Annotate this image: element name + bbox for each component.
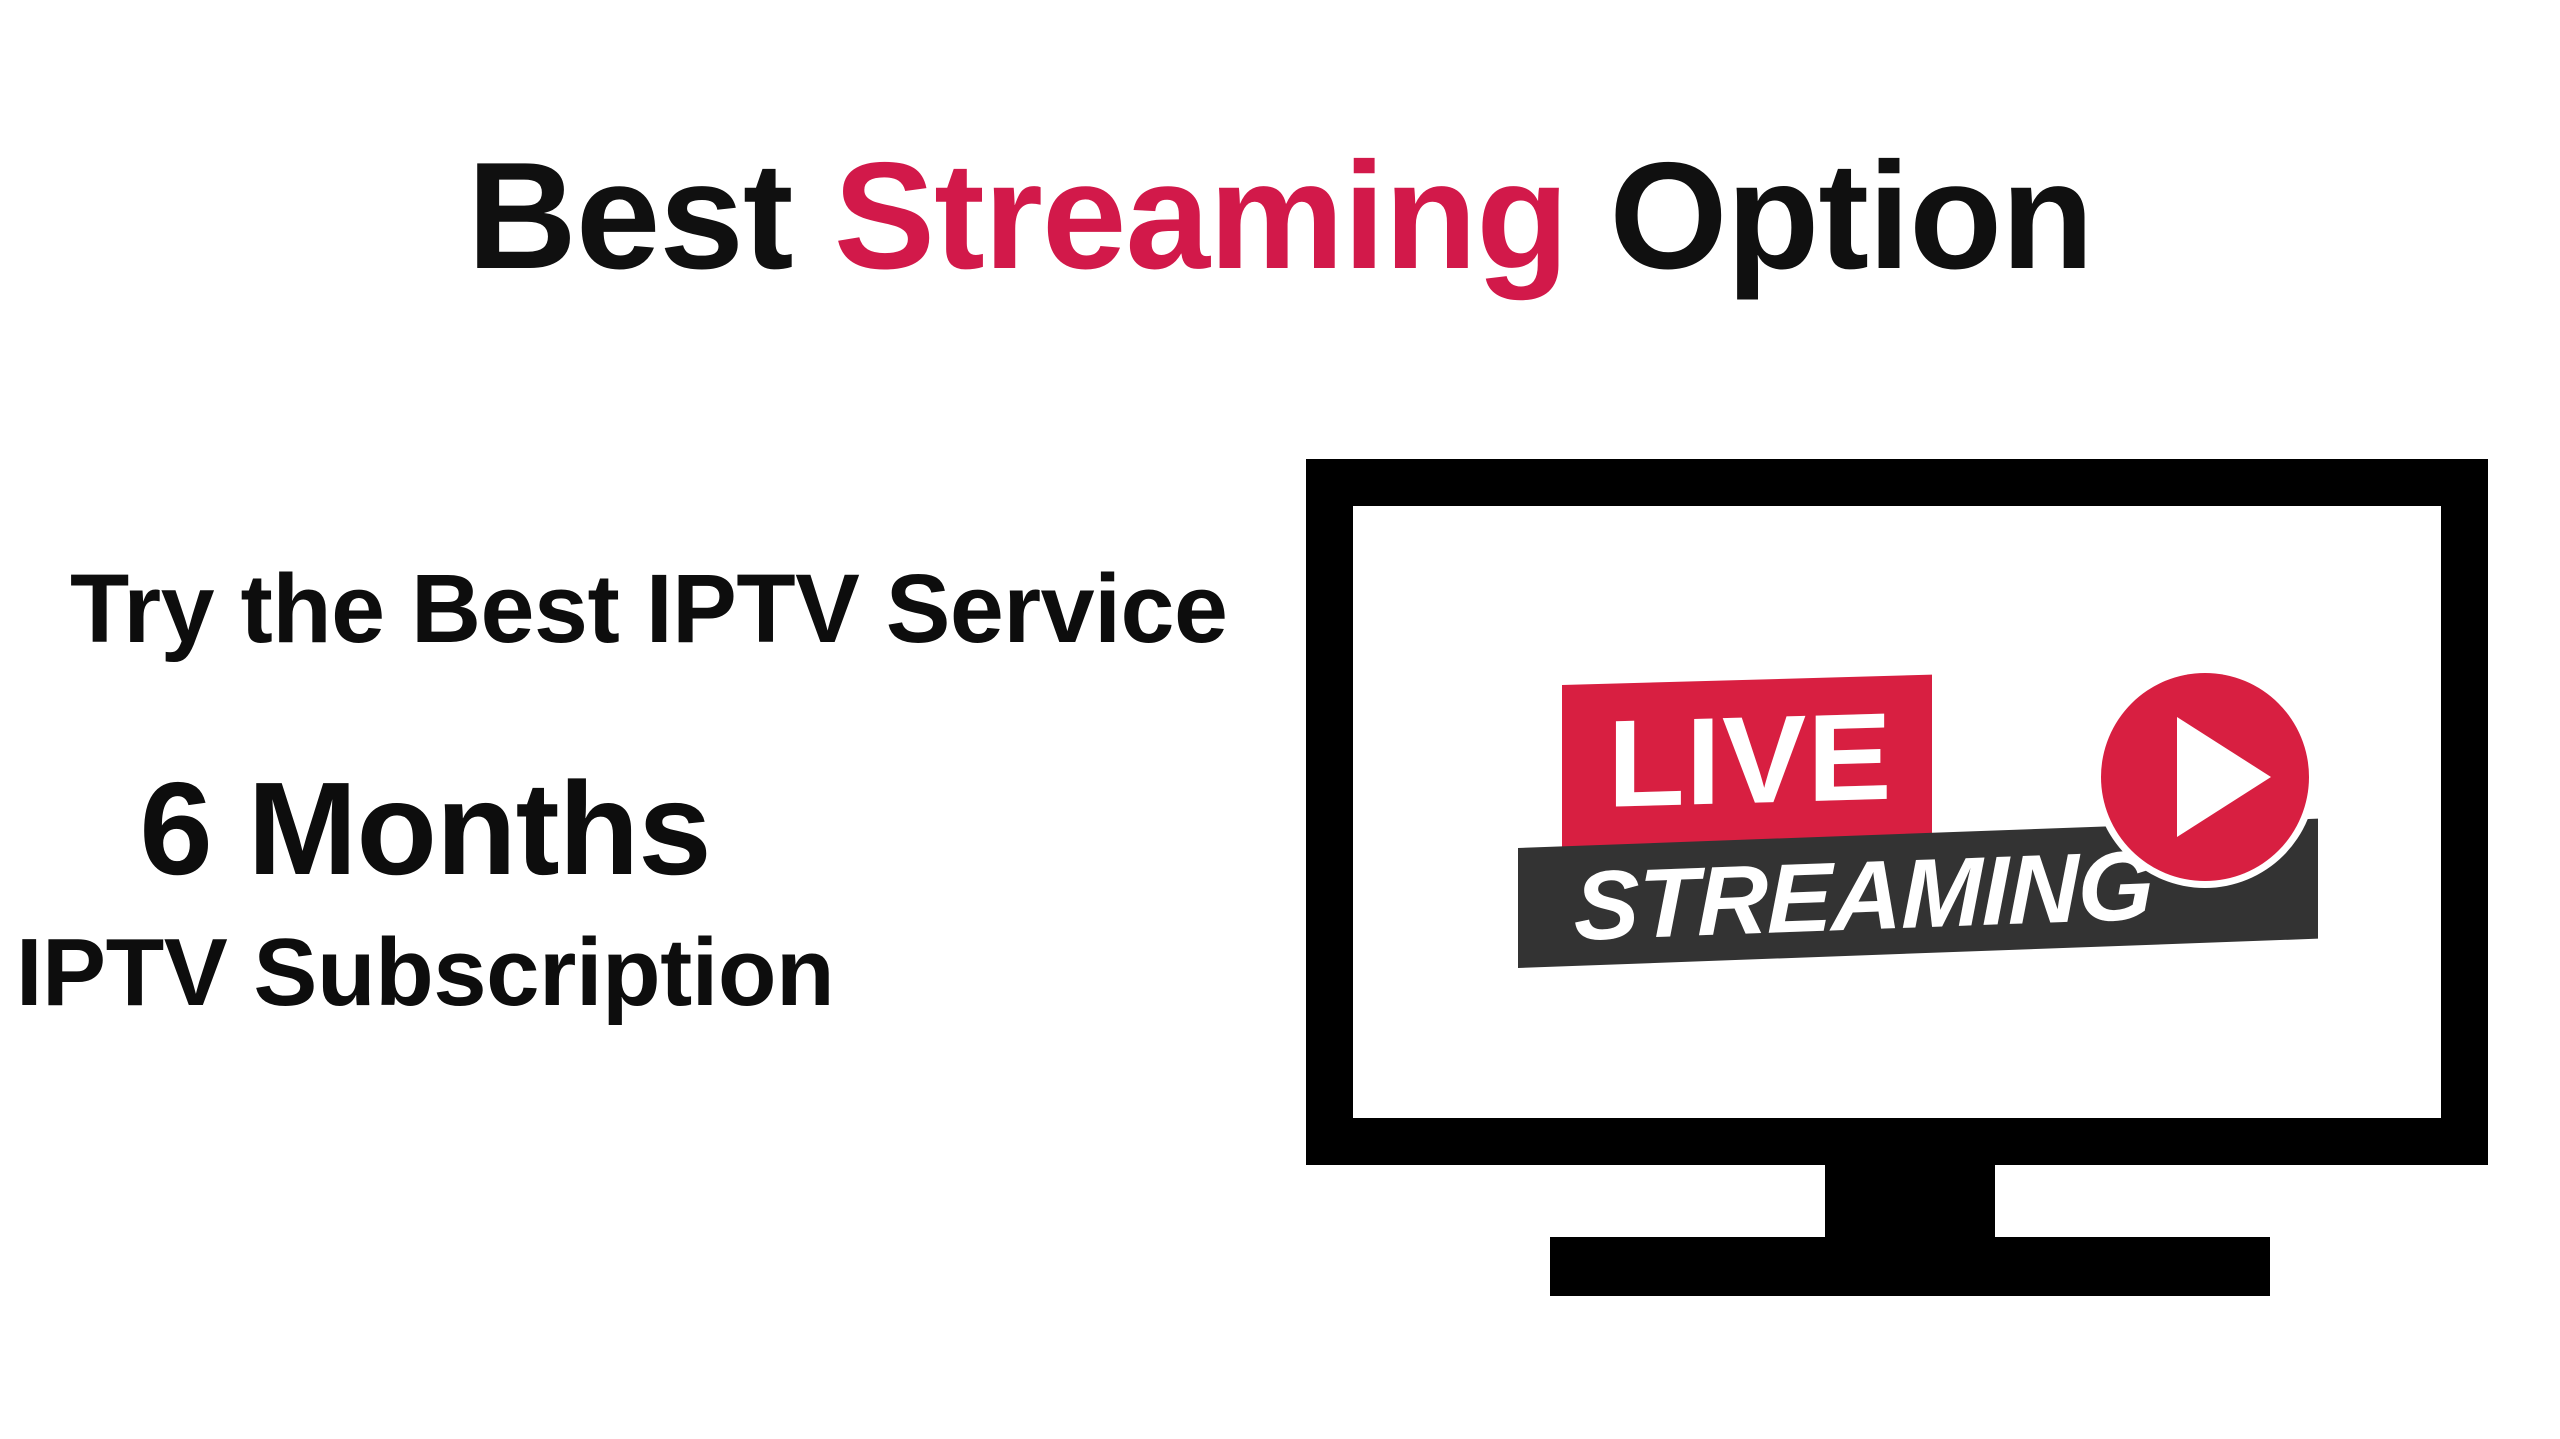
streaming-banner-label: STREAMING [1574, 825, 2153, 966]
headline-part-one: Best [467, 131, 834, 301]
play-button-badge [2093, 665, 2317, 889]
play-triangle-icon [2093, 665, 2317, 889]
live-banner-label: LIVE [1558, 675, 1935, 848]
offer-duration-text: 6 Months [0, 763, 850, 895]
live-banner: LIVE [1562, 675, 1932, 847]
tv-frame: LIVE STREAMING [1306, 459, 2488, 1165]
live-streaming-logo: LIVE STREAMING [1518, 656, 2348, 976]
tagline-text: Try the Best IPTV Service [0, 560, 1280, 657]
headline-accent-word: Streaming [834, 131, 1568, 301]
page-title: Best Streaming Option [0, 140, 2560, 292]
offer-block: 6 Months IPTV Subscription [0, 763, 1280, 1021]
tv-stand-neck [1825, 1165, 1995, 1237]
tv-stand-base [1550, 1237, 2270, 1296]
tv-illustration: LIVE STREAMING [1306, 459, 2488, 1295]
headline-part-two: Option [1568, 131, 2093, 301]
tv-screen: LIVE STREAMING [1353, 506, 2441, 1118]
promo-copy-block: Try the Best IPTV Service 6 Months IPTV … [0, 560, 1280, 1021]
offer-product-text: IPTV Subscription [0, 925, 850, 1021]
